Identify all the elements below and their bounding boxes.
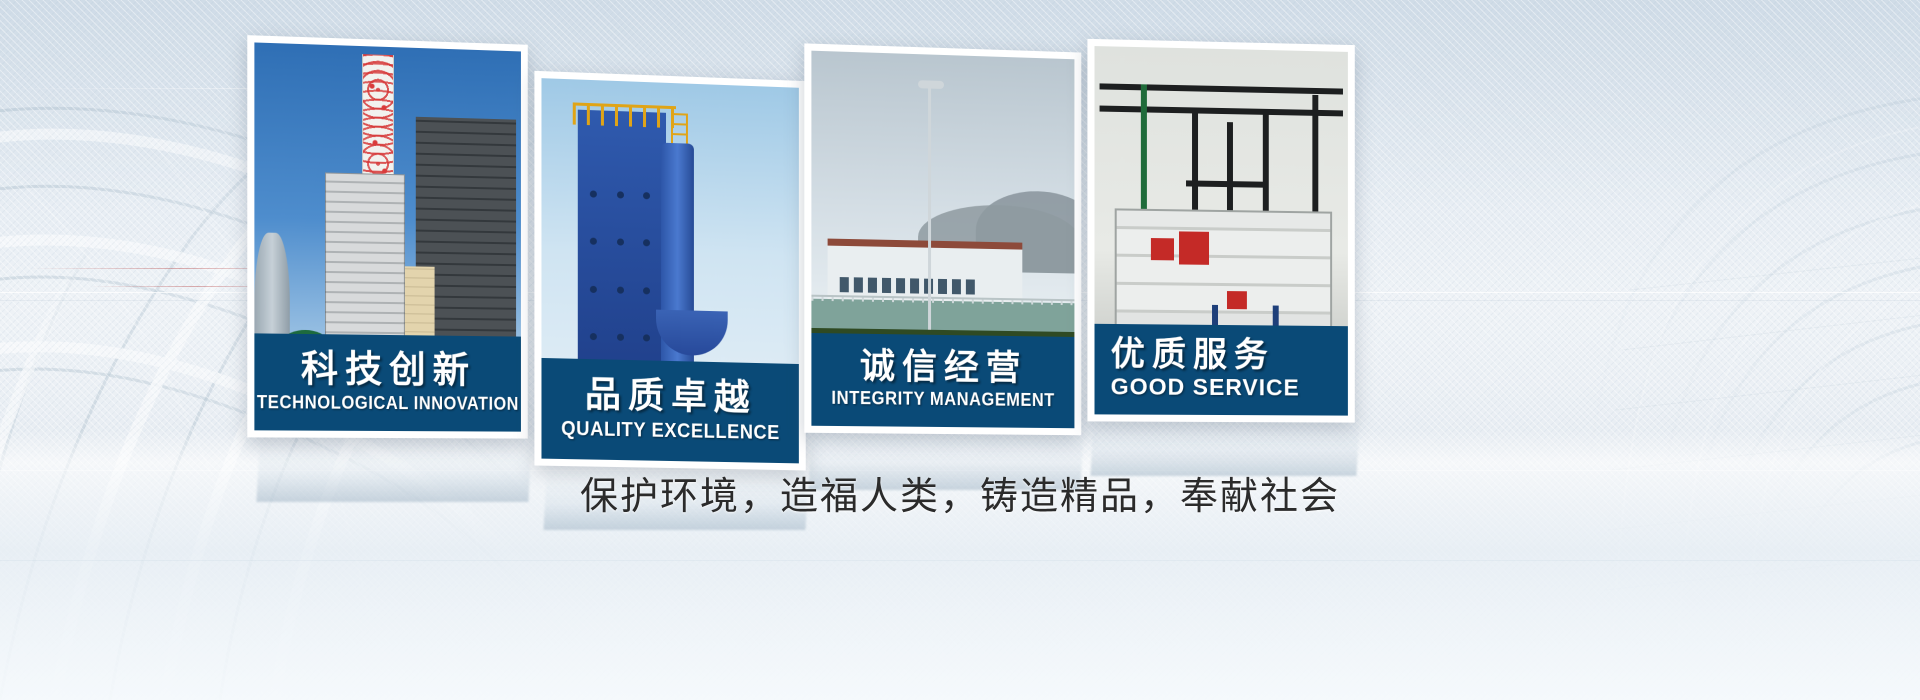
panel-title-cn-1: 科技创新 <box>301 350 476 391</box>
panel-caption-band-4: 优质服务 GOOD SERVICE <box>1095 324 1348 416</box>
feature-panel-quality-excellence[interactable]: 品质卓越 QUALITY EXCELLENCE <box>534 71 805 471</box>
feature-panel-integrity-management[interactable]: 诚信经营 INTEGRITY MANAGEMENT <box>804 43 1081 435</box>
feature-panel-good-service[interactable]: 优质服务 GOOD SERVICE <box>1087 39 1354 423</box>
banner-tagline: 保护环境，造福人类，铸造精品，奉献社会 <box>0 465 1920 520</box>
company-culture-banner: 科技创新 TECHNOLOGICAL INNOVATION <box>0 0 1920 700</box>
panel-photo-frame-1: 科技创新 TECHNOLOGICAL INNOVATION <box>254 42 521 431</box>
panel-title-en-3: INTEGRITY MANAGEMENT <box>832 389 1055 411</box>
panel-photo-frame-3: 诚信经营 INTEGRITY MANAGEMENT <box>811 51 1074 429</box>
panel-caption-band-1: 科技创新 TECHNOLOGICAL INNOVATION <box>254 333 521 431</box>
feature-panel-technological-innovation[interactable]: 科技创新 TECHNOLOGICAL INNOVATION <box>247 35 527 438</box>
panel-photo-frame-4: 优质服务 GOOD SERVICE <box>1095 46 1348 416</box>
panel-title-en-1: TECHNOLOGICAL INNOVATION <box>257 392 519 414</box>
panel-photo-frame-2: 品质卓越 QUALITY EXCELLENCE <box>541 78 798 463</box>
panel-title-cn-3: 诚信经营 <box>860 349 1027 388</box>
panel-title-en-4: GOOD SERVICE <box>1111 374 1300 400</box>
panel-title-cn-2: 品质卓越 <box>585 376 757 418</box>
panel-caption-band-3: 诚信经营 INTEGRITY MANAGEMENT <box>811 333 1074 428</box>
panel-title-cn-4: 优质服务 <box>1111 337 1275 374</box>
panel-caption-band-2: 品质卓越 QUALITY EXCELLENCE <box>541 358 798 463</box>
panel-title-en-2: QUALITY EXCELLENCE <box>561 418 780 444</box>
